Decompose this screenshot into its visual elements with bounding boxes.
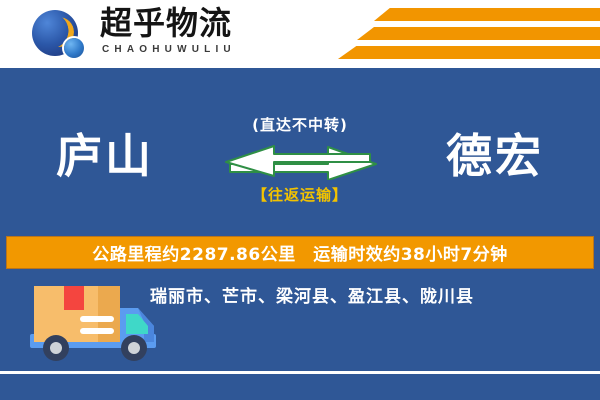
brand-text-block: 超乎物流 CHAOHUWULIU [100,4,290,64]
destination-city: 德宏 [446,128,544,184]
header-bar: 超乎物流 CHAOHUWULIU [0,0,600,68]
stripe-3 [338,46,600,59]
direct-service-tag: (直达不中转) [215,114,385,135]
logo-dot-icon [64,38,84,58]
route-info-bar: 公路里程约2287.86公里 运输时效约38小时7分钟 [6,236,594,269]
route-middle: (直达不中转) 【往返运输】 [215,112,385,212]
delivery-truck-icon [26,276,162,372]
logistics-route-banner: 超乎物流 CHAOHUWULIU 庐山 (直达不中转) 【往返运输】 [0,0,600,400]
coverage-area-list: 瑞丽市、芒市、梁河县、盈江县、陇川县 [150,282,570,307]
route-row: 庐山 (直达不中转) 【往返运输】 德宏 [0,112,600,212]
brand-name-en: CHAOHUWULIU [102,43,290,56]
brand-logo [24,8,100,60]
stripe-1 [374,8,600,21]
brand-name-cn: 超乎物流 [100,4,290,42]
stripe-2 [357,27,600,40]
bidirectional-arrow-icon [220,142,382,180]
route-info-text: 公路里程约2287.86公里 运输时效约38小时7分钟 [7,237,593,268]
roundtrip-tag: 【往返运输】 [215,184,385,205]
bottom-rule [0,371,600,374]
decorative-stripes [300,6,600,64]
origin-city: 庐山 [56,128,154,184]
